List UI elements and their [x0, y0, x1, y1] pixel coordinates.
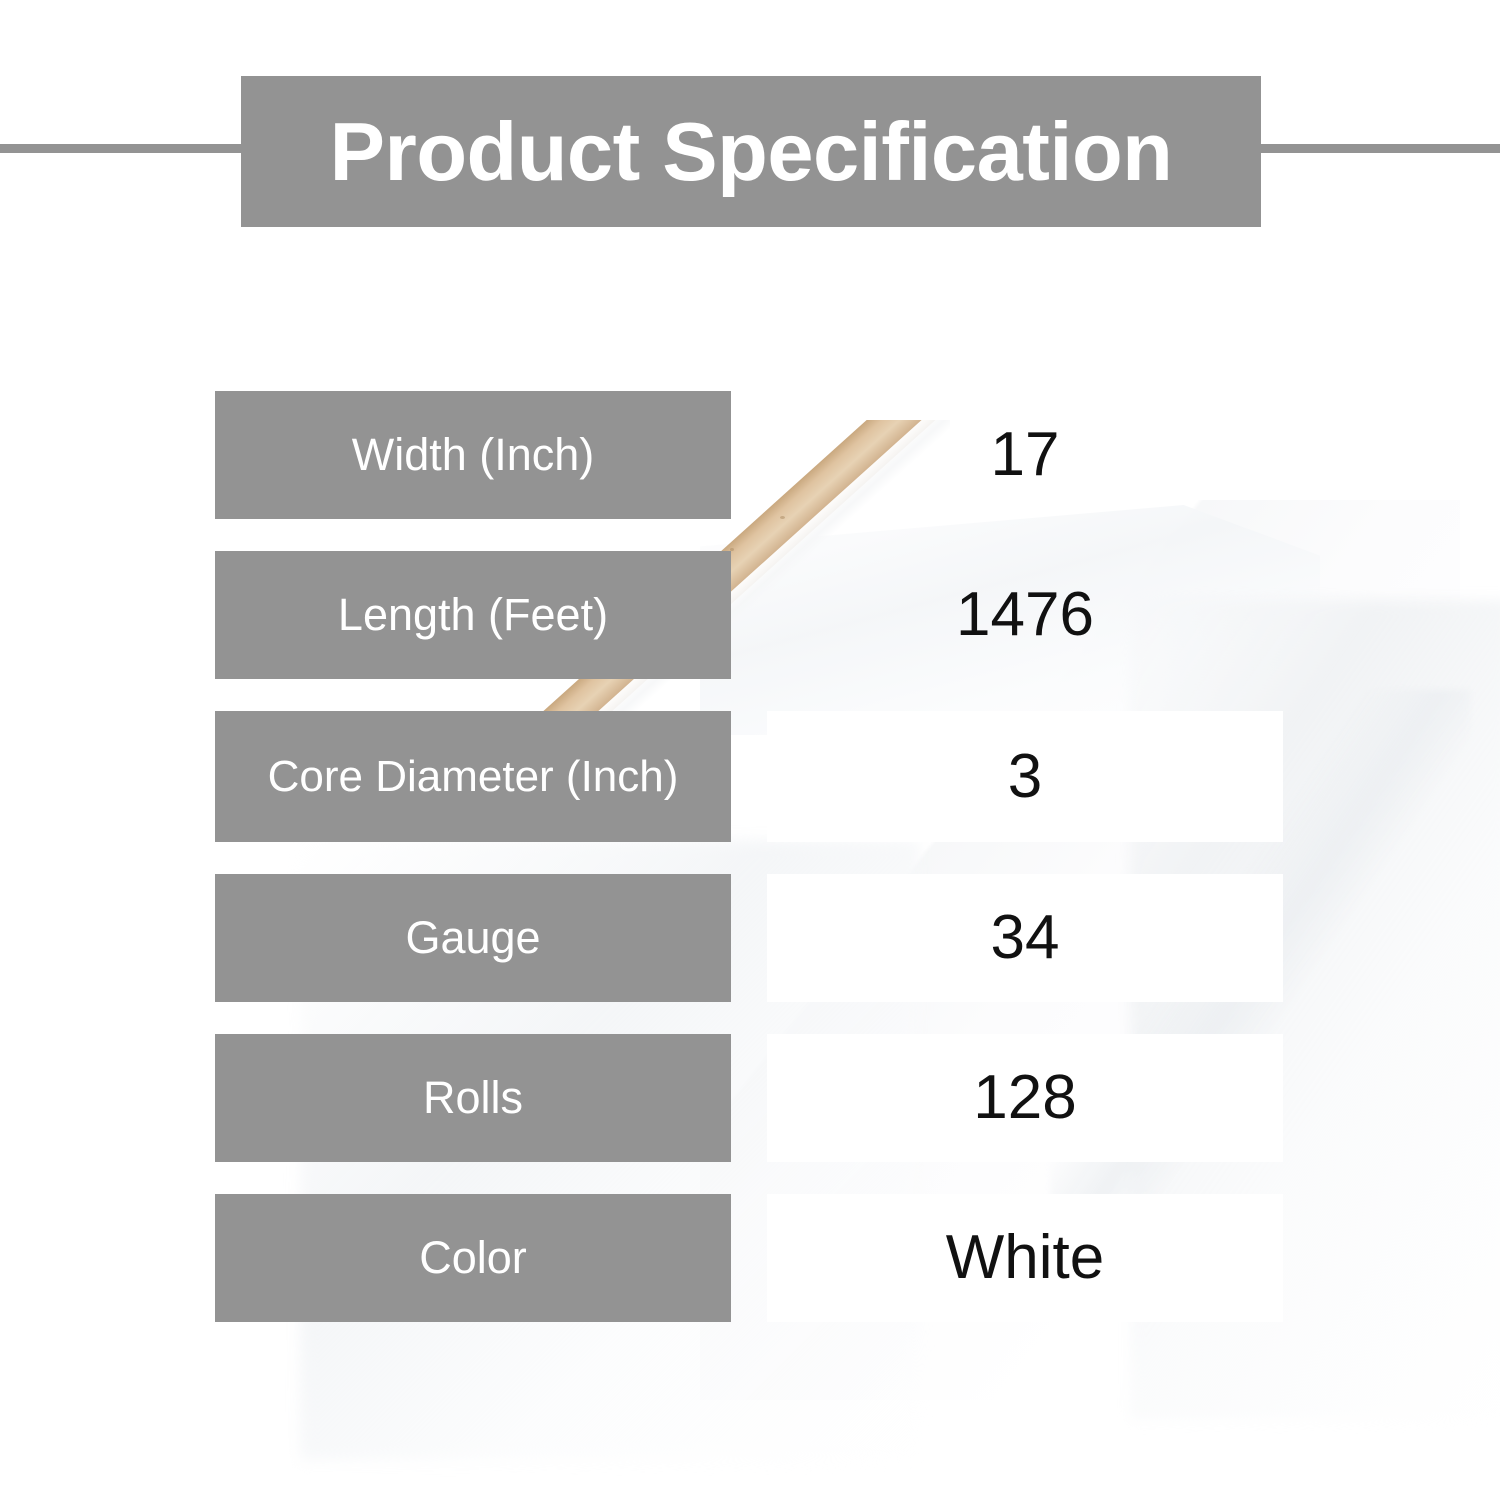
column-gap [731, 391, 767, 519]
spec-label-length: Length (Feet) [215, 551, 731, 679]
spec-label-gauge: Gauge [215, 874, 731, 1002]
spec-value-core-diameter: 3 [767, 711, 1283, 842]
column-gap [731, 1034, 767, 1162]
spec-value-gauge: 34 [767, 874, 1283, 1002]
table-row: Core Diameter (Inch) 3 [215, 711, 1285, 842]
table-row: Color White [215, 1194, 1285, 1322]
spec-label-rolls: Rolls [215, 1034, 731, 1162]
spec-value-width: 17 [767, 391, 1283, 519]
column-gap [731, 711, 767, 842]
page-title: Product Specification [330, 110, 1173, 193]
product-specification-page: Product Specification Width (Inch) 17 Le… [0, 0, 1500, 1500]
spec-label-color: Color [215, 1194, 731, 1322]
spec-value-length: 1476 [767, 551, 1283, 679]
spec-label-core-diameter: Core Diameter (Inch) [215, 711, 731, 842]
header-banner: Product Specification [241, 76, 1261, 227]
spec-label-width: Width (Inch) [215, 391, 731, 519]
spec-value-rolls: 128 [767, 1034, 1283, 1162]
table-row: Rolls 128 [215, 1034, 1285, 1162]
column-gap [731, 551, 767, 679]
column-gap [731, 874, 767, 1002]
spec-value-color: White [767, 1194, 1283, 1322]
table-row: Gauge 34 [215, 874, 1285, 1002]
table-row: Length (Feet) 1476 [215, 551, 1285, 679]
specification-table: Width (Inch) 17 Length (Feet) 1476 Core … [215, 391, 1285, 1322]
column-gap [731, 1194, 767, 1322]
table-row: Width (Inch) 17 [215, 391, 1285, 519]
